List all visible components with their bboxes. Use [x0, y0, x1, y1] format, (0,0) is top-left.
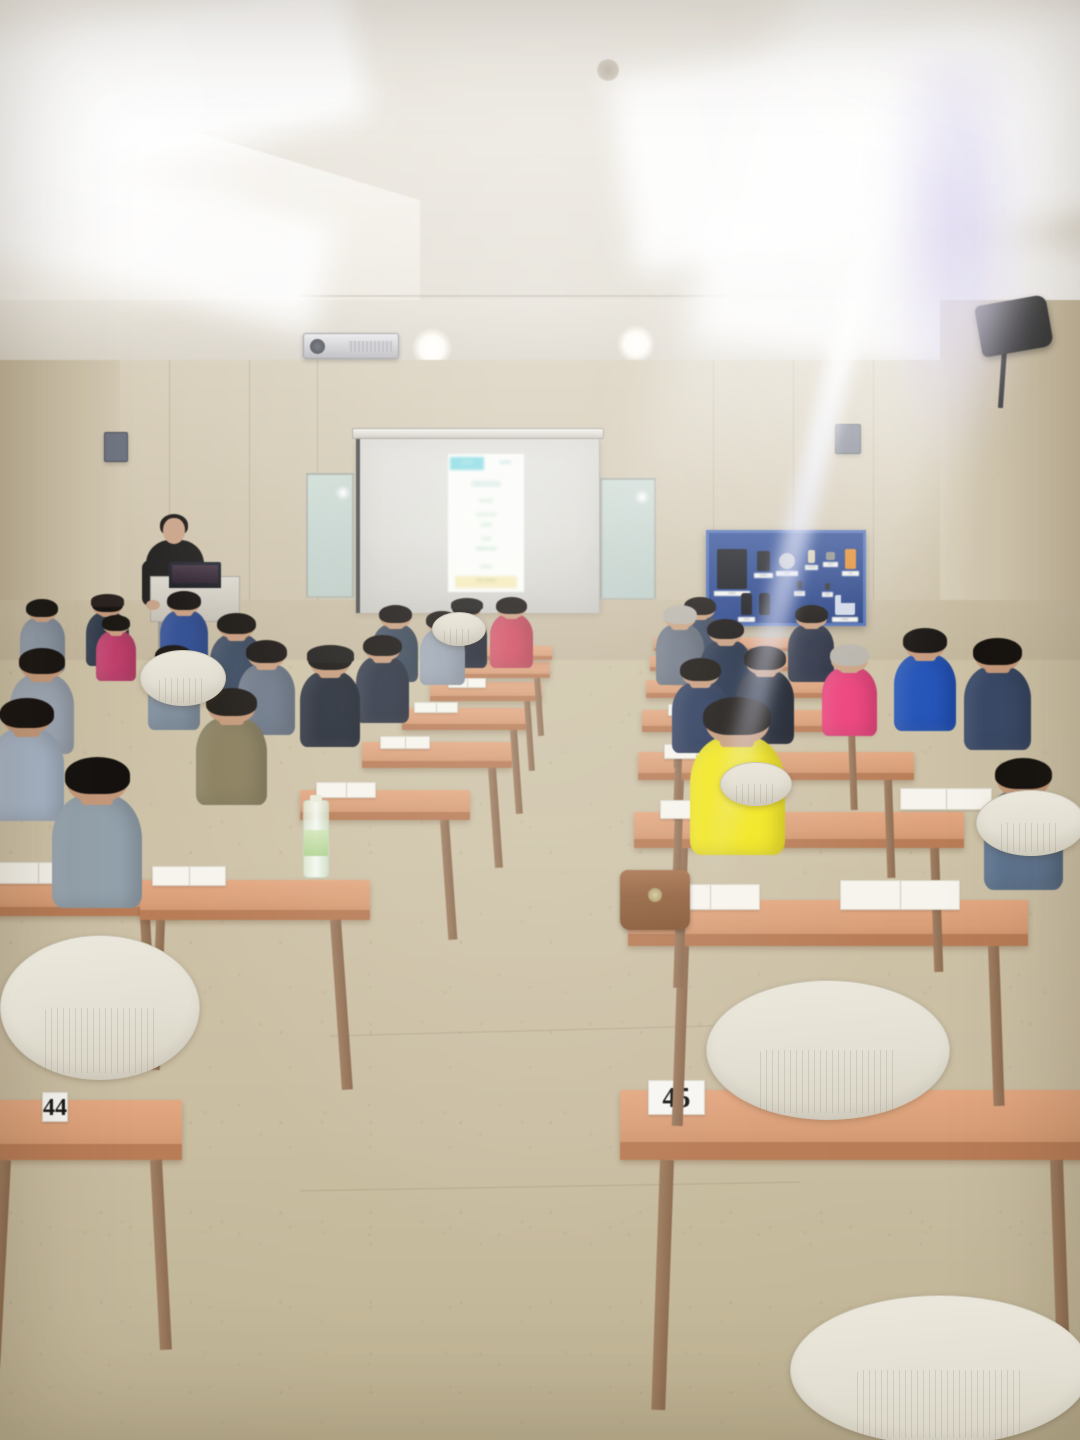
chair-rib-texture	[736, 784, 775, 803]
desk-left	[140, 880, 370, 920]
desk-edge	[628, 934, 1028, 946]
attendee-cap	[451, 598, 483, 611]
attendee-hair	[680, 658, 721, 681]
attendee-torso	[300, 671, 360, 747]
projected-slide: □□□□ □□□□ □□□□□□□ □□ □□ □□ □□ □□ □ □□ □□…	[448, 454, 524, 592]
desk-edge	[0, 1144, 182, 1160]
board-item-tiny	[797, 581, 802, 589]
attendee-torso	[490, 614, 533, 668]
water-bottle	[303, 800, 329, 878]
desk-left: 44	[0, 1100, 182, 1160]
attendee-hair	[703, 697, 771, 735]
desk-number-tag: 44	[42, 1092, 68, 1122]
slide-line: □□□ □ □□	[452, 546, 520, 552]
screen-roller-housing	[352, 428, 604, 439]
attendee	[490, 598, 533, 673]
slide-line: □□□	[452, 536, 520, 542]
attendee-hair	[19, 648, 65, 673]
attendee-hair	[363, 635, 401, 656]
slide-header-left: □□□□	[450, 457, 484, 470]
attendee-hair	[496, 597, 527, 614]
attendee-cap	[91, 594, 125, 607]
wall-speaker-right-icon	[835, 424, 861, 454]
projection-screen: □□□□ □□□□ □□□□□□□ □□ □□ □□ □□ □□ □ □□ □□…	[356, 439, 600, 613]
attendee-hair	[830, 644, 870, 666]
attendee-hair	[973, 638, 1021, 665]
slide-line: □□ □□ □□	[452, 512, 520, 518]
board-item-small	[808, 550, 815, 563]
board-item-cylinder	[741, 593, 752, 615]
open-book	[414, 702, 458, 713]
board-item-label: □□□	[822, 592, 833, 597]
chair-rib-texture	[444, 629, 473, 644]
board-item-disc	[779, 553, 795, 569]
attendee-hair	[379, 605, 412, 624]
attendee	[52, 760, 142, 918]
chair-back	[790, 1295, 1080, 1440]
attendee-hair	[26, 599, 58, 617]
laptop-icon	[169, 562, 221, 588]
wall-speaker-left-icon	[104, 432, 128, 462]
leather-bag-clasp	[648, 888, 662, 902]
board-item-label: □□□	[776, 571, 798, 576]
slide-title: □□□□□□□	[452, 480, 520, 488]
open-book	[900, 788, 992, 810]
attendee	[300, 648, 360, 753]
board-item-label: □□	[842, 571, 859, 576]
open-book	[380, 736, 430, 749]
attendee-hair	[167, 591, 202, 610]
attendee-hair	[995, 758, 1052, 790]
board-item-small	[826, 552, 835, 560]
attendee-hair	[744, 646, 786, 669]
attendee-torso	[196, 717, 267, 806]
board-item-label: □□□□	[832, 617, 858, 622]
attendee	[964, 640, 1031, 757]
open-book	[840, 880, 960, 910]
attendee-torso	[52, 794, 142, 907]
desk-edge	[620, 1142, 1080, 1160]
desk-edge	[634, 839, 964, 848]
chair-rib-texture	[857, 1370, 1024, 1438]
slide-header-right: □□□□	[488, 457, 522, 470]
attendee-torso	[822, 667, 877, 736]
downlight-icon	[617, 325, 655, 363]
attendee-hair	[246, 640, 287, 663]
chair-back	[706, 980, 950, 1120]
attendee-hair	[0, 698, 53, 728]
board-item-label: □□□	[823, 562, 838, 567]
chair-rib-texture	[760, 1050, 896, 1113]
chair-rib-texture	[159, 678, 206, 703]
board-item-tiny	[825, 583, 830, 590]
attendee	[822, 646, 877, 742]
chair-rib-texture	[1001, 823, 1061, 852]
attendee-cap	[307, 645, 354, 663]
slide-line: □ □□	[452, 522, 520, 528]
desk-edge	[140, 910, 370, 920]
chair-back	[140, 650, 226, 706]
attendee	[196, 690, 267, 813]
chair-back	[432, 612, 486, 646]
classroom-photo: □□□□ □□□□ □□□□□□□ □□ □□ □□ □□ □□ □ □□ □□…	[0, 0, 1080, 1440]
board-item-label: □□□□□	[805, 565, 818, 570]
attendee-hair	[795, 605, 828, 624]
attendee-torso	[96, 631, 136, 681]
sprinkler-icon	[597, 59, 619, 81]
attendee-torso	[894, 654, 956, 732]
board-item-label: □□□□	[794, 591, 805, 596]
chair-back	[720, 762, 792, 806]
board-item-panel	[717, 549, 747, 589]
attendee	[894, 630, 956, 738]
blue-exhibit-board: □□□□□□□□□□□□□□□□□□□□□□□□□□□□□□□□□□□	[706, 530, 866, 626]
chair-back	[976, 790, 1080, 856]
open-book	[152, 866, 226, 886]
board-item-cylinder	[759, 593, 770, 615]
attendee-hair	[663, 605, 698, 624]
attendee-hair	[903, 628, 948, 653]
attendee-torso	[356, 656, 409, 723]
lecturer-hand	[146, 600, 160, 610]
slide-line: □□ □□	[452, 498, 520, 504]
chair-rib-texture	[45, 1008, 156, 1074]
frosted-glass-panel-left	[306, 473, 354, 598]
attendee-torso	[964, 666, 1031, 750]
board-item-label: □□□□	[754, 573, 773, 578]
desk-edge	[362, 761, 512, 768]
attendee-hair	[707, 619, 744, 640]
slide-footer: □□ □□□□	[455, 576, 517, 588]
attendee-hair	[102, 615, 130, 631]
slide-line: □ □ □	[452, 564, 520, 570]
attendee	[356, 636, 409, 729]
board-item-device	[757, 551, 770, 571]
attendee-hair	[217, 613, 255, 634]
board-item-canister	[845, 549, 856, 569]
attendee	[96, 616, 136, 685]
board-item-chart	[835, 595, 855, 615]
chair-back	[0, 935, 200, 1080]
frosted-glass-panel-right	[600, 478, 656, 600]
ceiling-projector-icon	[303, 333, 399, 359]
attendee-hair	[65, 757, 130, 793]
open-book	[316, 782, 376, 798]
lecturer-head	[163, 518, 185, 544]
